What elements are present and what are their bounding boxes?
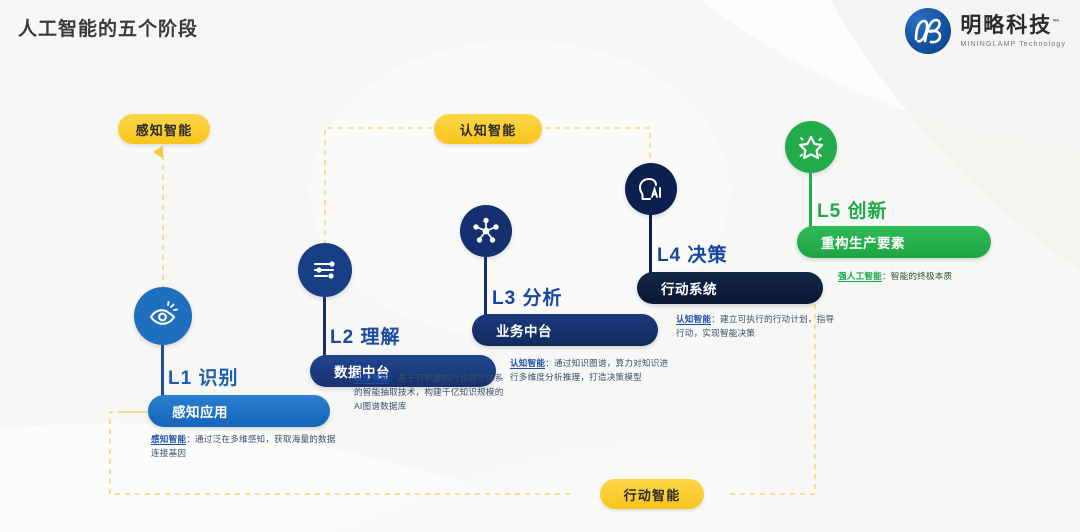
tag-perception-intelligence[interactable]: 感知智能 (118, 114, 210, 144)
tag-cognitive-intelligence[interactable]: 认知智能 (434, 114, 542, 144)
desc-l1: 感知智能：通过泛在多维感知，获取海量的数据连接基因 (151, 433, 337, 461)
pill-l1[interactable]: 感知应用 (148, 395, 330, 427)
desc-term-l5: 强人工智能 (838, 271, 882, 282)
level-label-l2: L2 理解 (330, 322, 400, 349)
level-label-l5: L5 创新 (817, 196, 887, 223)
star-innovation-icon[interactable] (785, 121, 837, 173)
logo-text-cn: 明略科技™ (960, 15, 1066, 36)
desc-l3: 认知智能：通过知识图谱，算力对知识进行多维度分析推理，打造决策模型 (510, 357, 672, 385)
level-label-l4: L4 决策 (657, 240, 727, 267)
desc-term-l1: 感知智能 (151, 434, 186, 445)
level-label-l3: L3 分析 (492, 283, 562, 310)
desc-term-l4: 认知智能 (676, 314, 711, 325)
stem-l5 (809, 173, 812, 231)
mininglamp-logo-icon (905, 8, 951, 54)
page-title: 人工智能的五个阶段 (18, 14, 198, 41)
brand-logo: 明略科技™ MININGLAMP Technology (905, 8, 1066, 54)
desc-term-l3: 认知智能 (510, 358, 545, 369)
tag-action-intelligence[interactable]: 行动智能 (600, 479, 704, 509)
desc-l5: 强人工智能：智能的终极本质 (838, 270, 1038, 284)
pill-l4[interactable]: 行动系统 (637, 272, 823, 304)
knowledge-graph-icon[interactable] (460, 205, 512, 257)
desc-term-l2: 认知智能 (354, 373, 389, 384)
logo-cn-label: 明略科技 (960, 14, 1052, 37)
desc-text-l5: ：智能的终极本质 (882, 271, 952, 281)
desc-l2: 认知智能：基于可积累的行业符号体系的智能抽取技术，构建千亿知识规模的AI图谱数据… (354, 372, 506, 414)
ai-head-icon[interactable] (625, 163, 677, 215)
desc-l4: 认知智能：建立可执行的行动计划，指导行动，实现智能决策 (676, 313, 836, 341)
data-nodes-icon[interactable] (298, 243, 352, 297)
logo-trademark: ™ (1052, 19, 1061, 26)
logo-text-en: MININGLAMP Technology (960, 40, 1066, 47)
level-label-l1: L1 识别 (168, 363, 238, 390)
stem-l3 (484, 257, 487, 319)
pill-l3[interactable]: 业务中台 (472, 314, 658, 346)
eye-icon[interactable] (134, 287, 192, 345)
stem-l2 (323, 297, 326, 357)
stem-l4 (649, 215, 652, 275)
pill-l5[interactable]: 重构生产要素 (797, 226, 991, 258)
